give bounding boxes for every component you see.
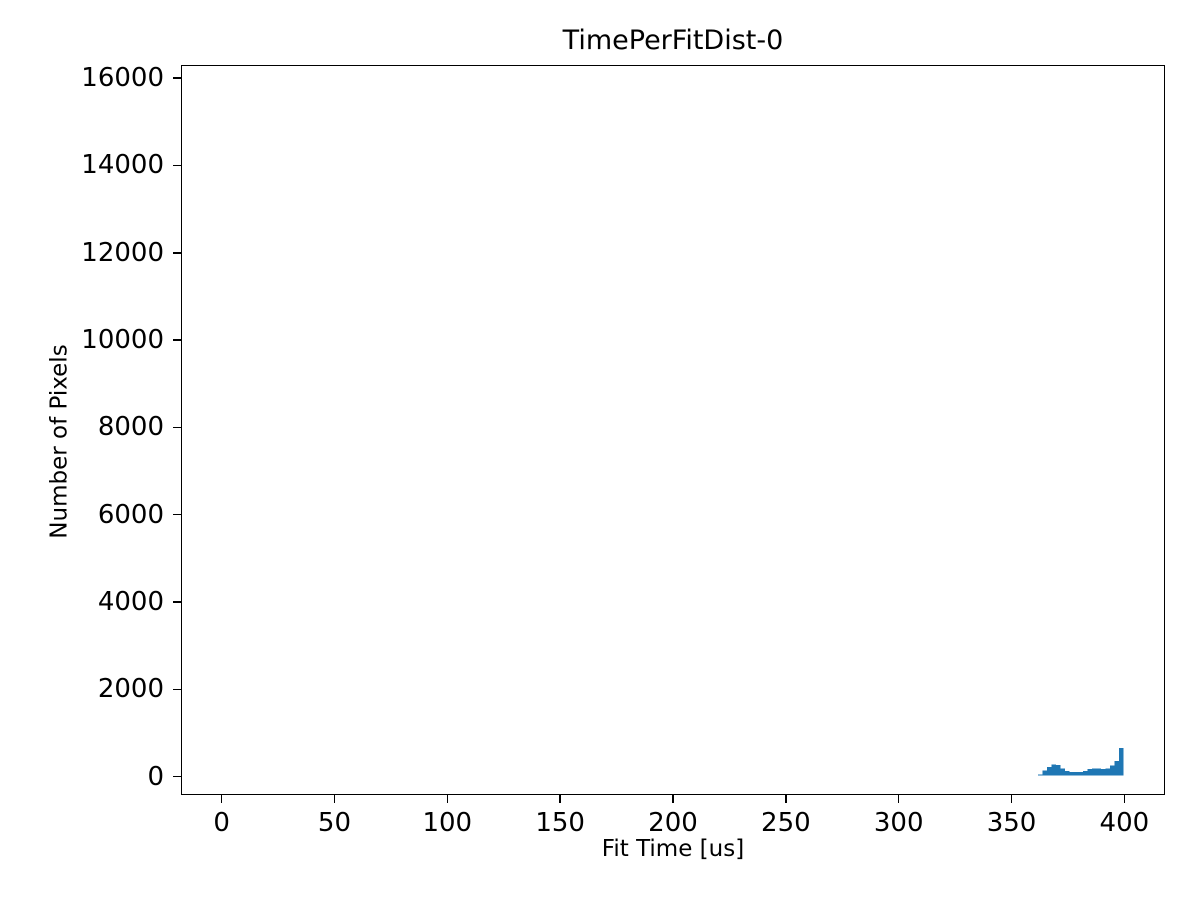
- x-tick-label: 200: [648, 810, 698, 836]
- y-tick-mark: [173, 77, 181, 79]
- y-tick-mark: [173, 514, 181, 516]
- y-tick-mark: [173, 601, 181, 603]
- y-tick-mark: [173, 339, 181, 341]
- y-tick-label: 8000: [0, 414, 164, 440]
- y-tick-mark: [173, 689, 181, 691]
- y-tick-mark: [173, 165, 181, 167]
- y-tick-label: 16000: [0, 65, 164, 91]
- y-tick-label: 14000: [0, 152, 164, 178]
- x-tick-label: 350: [987, 810, 1037, 836]
- x-tick-mark: [559, 795, 561, 803]
- x-tick-mark: [898, 795, 900, 803]
- x-tick-mark: [672, 795, 674, 803]
- x-tick-label: 50: [318, 810, 351, 836]
- y-tick-mark: [173, 427, 181, 429]
- x-tick-mark: [1011, 795, 1013, 803]
- x-tick-label: 0: [213, 810, 230, 836]
- y-tick-label: 6000: [0, 502, 164, 528]
- y-tick-label: 0: [0, 764, 164, 790]
- y-tick-label: 4000: [0, 589, 164, 615]
- x-tick-label: 300: [874, 810, 924, 836]
- x-tick-mark: [447, 795, 449, 803]
- histogram-bars: [182, 66, 1164, 794]
- x-tick-label: 100: [422, 810, 472, 836]
- x-tick-label: 250: [761, 810, 811, 836]
- x-tick-mark: [785, 795, 787, 803]
- x-tick-label: 150: [535, 810, 585, 836]
- x-tick-mark: [221, 795, 223, 803]
- x-tick-label: 400: [1100, 810, 1150, 836]
- plot-area: [181, 65, 1165, 795]
- y-tick-mark: [173, 252, 181, 254]
- y-axis-label: Number of Pixels: [49, 232, 72, 652]
- x-tick-mark: [1124, 795, 1126, 803]
- y-tick-label: 12000: [0, 240, 164, 266]
- y-tick-label: 10000: [0, 327, 164, 353]
- y-tick-label: 2000: [0, 676, 164, 702]
- page-title: TimePerFitDist-0: [181, 27, 1165, 54]
- x-axis-label: Fit Time [us]: [181, 838, 1165, 861]
- figure-canvas: TimePerFitDist-0 02000400060008000100001…: [0, 0, 1200, 900]
- x-tick-mark: [334, 795, 336, 803]
- y-tick-mark: [173, 776, 181, 778]
- bar-series: [1038, 748, 1124, 776]
